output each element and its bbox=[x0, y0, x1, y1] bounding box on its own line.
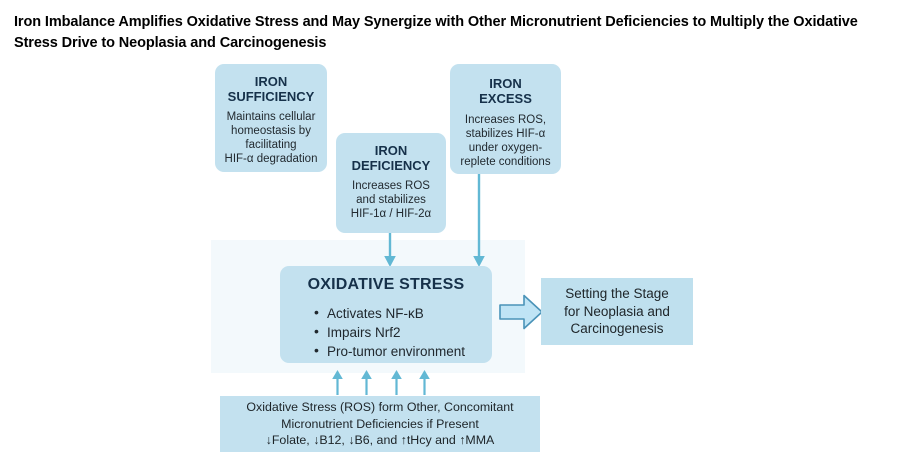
node-micronutrients-line-2: Micronutrient Deficiencies if Present bbox=[281, 416, 479, 433]
node-iron-deficiency-header-line-2: DEFICIENCY bbox=[336, 158, 446, 173]
node-iron-excess-body-line-3: under oxygen- bbox=[450, 141, 561, 155]
arrow-iron-excess-to-oxidative-stress bbox=[472, 174, 486, 268]
node-iron-excess-body-line-1: Increases ROS, bbox=[450, 113, 561, 127]
node-outcome-line-1: Setting the Stage bbox=[564, 285, 670, 303]
node-outcome-neoplasia: Setting the Stage for Neoplasia and Carc… bbox=[541, 278, 693, 345]
node-iron-excess-header-line-1: IRON bbox=[450, 76, 561, 91]
node-iron-deficiency-body: Increases ROS and stabilizes HIF-1α / HI… bbox=[336, 179, 446, 221]
node-micronutrients-line-3: ↓Folate, ↓B12, ↓B6, and ↑tHcy and ↑MMA bbox=[266, 432, 495, 449]
list-item: Impairs Nrf2 bbox=[314, 323, 492, 342]
node-iron-deficiency-body-line-2: and stabilizes bbox=[336, 193, 446, 207]
node-iron-excess-body: Increases ROS, stabilizes HIF-α under ox… bbox=[450, 113, 561, 169]
node-iron-deficiency-body-line-1: Increases ROS bbox=[336, 179, 446, 193]
node-iron-sufficiency-header-line-1: IRON bbox=[215, 74, 327, 89]
node-iron-excess: IRON EXCESS Increases ROS, stabilizes HI… bbox=[450, 64, 561, 174]
node-iron-deficiency-body-line-3: HIF-1α / HIF-2α bbox=[336, 207, 446, 221]
node-outcome-body: Setting the Stage for Neoplasia and Carc… bbox=[564, 285, 670, 338]
node-iron-sufficiency-header: IRON SUFFICIENCY bbox=[215, 74, 327, 104]
diagram-canvas: Iron Imbalance Amplifies Oxidative Stres… bbox=[0, 0, 914, 466]
node-outcome-line-3: Carcinogenesis bbox=[564, 320, 670, 338]
list-item: Pro-tumor environment bbox=[314, 342, 492, 361]
node-iron-excess-header: IRON EXCESS bbox=[450, 76, 561, 106]
node-iron-excess-body-line-4: replete conditions bbox=[450, 155, 561, 169]
node-oxidative-stress: OXIDATIVE STRESS Activates NF-κB Impairs… bbox=[280, 266, 492, 363]
node-outcome-line-2: for Neoplasia and bbox=[564, 303, 670, 321]
node-oxidative-stress-header: OXIDATIVE STRESS bbox=[280, 276, 492, 295]
node-micronutrient-deficiencies: Oxidative Stress (ROS) form Other, Conco… bbox=[220, 396, 540, 452]
arrow-iron-deficiency-to-oxidative-stress bbox=[383, 233, 397, 268]
node-iron-sufficiency: IRON SUFFICIENCY Maintains cellular home… bbox=[215, 64, 327, 172]
arrow-micronutrients-to-oxidative-stress-3 bbox=[390, 370, 403, 395]
arrow-oxidative-stress-to-outcome bbox=[499, 294, 543, 330]
node-iron-excess-header-line-2: EXCESS bbox=[450, 91, 561, 106]
node-iron-deficiency-header: IRON DEFICIENCY bbox=[336, 143, 446, 173]
node-oxidative-stress-bullet-list: Activates NF-κB Impairs Nrf2 Pro-tumor e… bbox=[280, 304, 492, 361]
node-iron-sufficiency-body-line-3: facilitating bbox=[215, 138, 327, 152]
arrow-micronutrients-to-oxidative-stress-1 bbox=[331, 370, 344, 395]
arrow-micronutrients-to-oxidative-stress-2 bbox=[360, 370, 373, 395]
node-iron-sufficiency-body: Maintains cellular homeostasis by facili… bbox=[215, 110, 327, 166]
node-micronutrients-line-1: Oxidative Stress (ROS) form Other, Conco… bbox=[246, 399, 513, 416]
node-iron-deficiency-header-line-1: IRON bbox=[336, 143, 446, 158]
figure-title: Iron Imbalance Amplifies Oxidative Stres… bbox=[14, 12, 894, 54]
node-iron-sufficiency-body-line-2: homeostasis by bbox=[215, 124, 327, 138]
list-item: Activates NF-κB bbox=[314, 304, 492, 323]
node-iron-deficiency: IRON DEFICIENCY Increases ROS and stabil… bbox=[336, 133, 446, 233]
node-iron-sufficiency-header-line-2: SUFFICIENCY bbox=[215, 89, 327, 104]
node-iron-excess-body-line-2: stabilizes HIF-α bbox=[450, 127, 561, 141]
arrow-micronutrients-to-oxidative-stress-4 bbox=[418, 370, 431, 395]
node-iron-sufficiency-body-line-4: HIF-α degradation bbox=[215, 152, 327, 166]
node-iron-sufficiency-body-line-1: Maintains cellular bbox=[215, 110, 327, 124]
